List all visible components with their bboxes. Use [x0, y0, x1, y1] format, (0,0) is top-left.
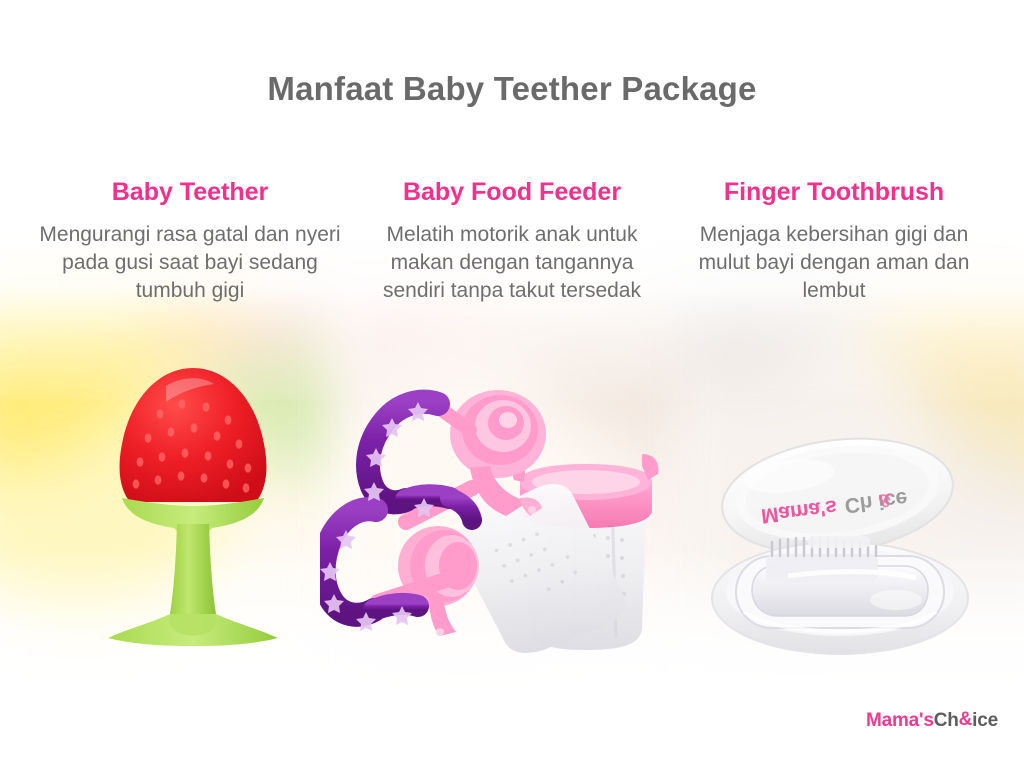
poster-canvas: Manfaat Baby Teether Package Baby Teethe…	[0, 0, 1024, 778]
benefit-column-baby-food-feeder: Baby Food Feeder Melatih motorik anak un…	[351, 178, 673, 305]
logo-ampersand-icon: &	[959, 709, 973, 730]
brand-logo: Mama'sCh&ice	[866, 711, 998, 730]
column-heading-baby-teether: Baby Teether	[35, 178, 345, 207]
column-description-baby-teether: Mengurangi rasa gatal dan nyeri pada gus…	[35, 221, 345, 305]
benefit-column-finger-toothbrush: Finger Toothbrush Menjaga kebersihan gig…	[673, 178, 995, 305]
finger-toothbrush-icon: Mama's Ch ice &	[688, 430, 988, 665]
column-heading-finger-toothbrush: Finger Toothbrush	[679, 178, 989, 207]
column-description-finger-toothbrush: Menjaga kebersihan gigi dan mulut bayi d…	[679, 221, 989, 305]
logo-ice: ice	[972, 710, 998, 731]
page-title: Manfaat Baby Teether Package	[0, 70, 1024, 108]
logo-mamas: Mama's	[866, 710, 934, 731]
logo-ch: Ch	[934, 710, 959, 731]
column-heading-baby-food-feeder: Baby Food Feeder	[357, 178, 667, 207]
food-feeder-icon	[320, 370, 680, 660]
benefit-columns: Baby Teether Mengurangi rasa gatal dan n…	[0, 178, 1024, 305]
column-description-baby-food-feeder: Melatih motorik anak untuk makan dengan …	[357, 221, 667, 305]
svg-text:&: &	[877, 488, 893, 511]
benefit-column-baby-teether: Baby Teether Mengurangi rasa gatal dan n…	[29, 178, 351, 305]
strawberry-teether-icon	[78, 352, 308, 652]
